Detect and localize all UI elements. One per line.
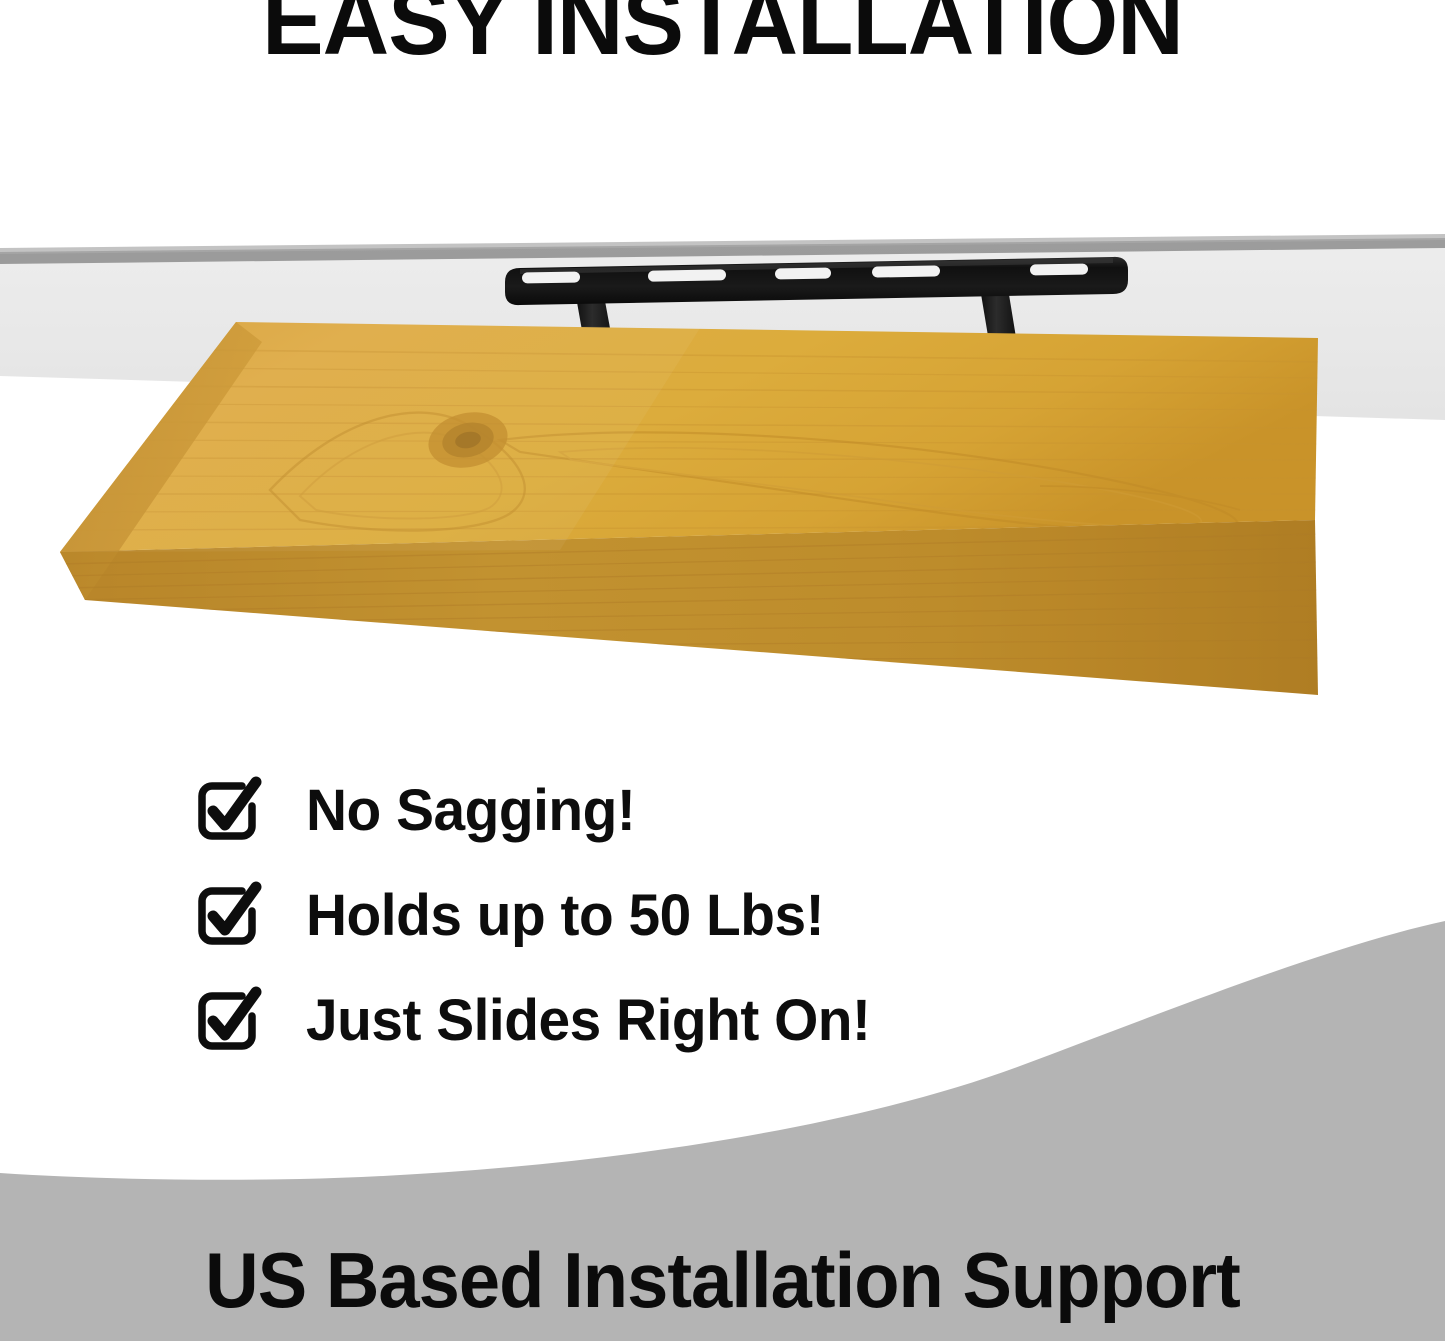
- list-item: No Sagging!: [196, 758, 1096, 863]
- product-photo: [0, 190, 1445, 750]
- checkbox-checked-icon: [196, 780, 258, 842]
- wooden-shelf: [52, 322, 1330, 695]
- page-title: EASY INSTALLATION: [29, 0, 1416, 70]
- footer-caption: US Based Installation Support: [36, 1237, 1409, 1323]
- feature-label: No Sagging!: [306, 782, 635, 840]
